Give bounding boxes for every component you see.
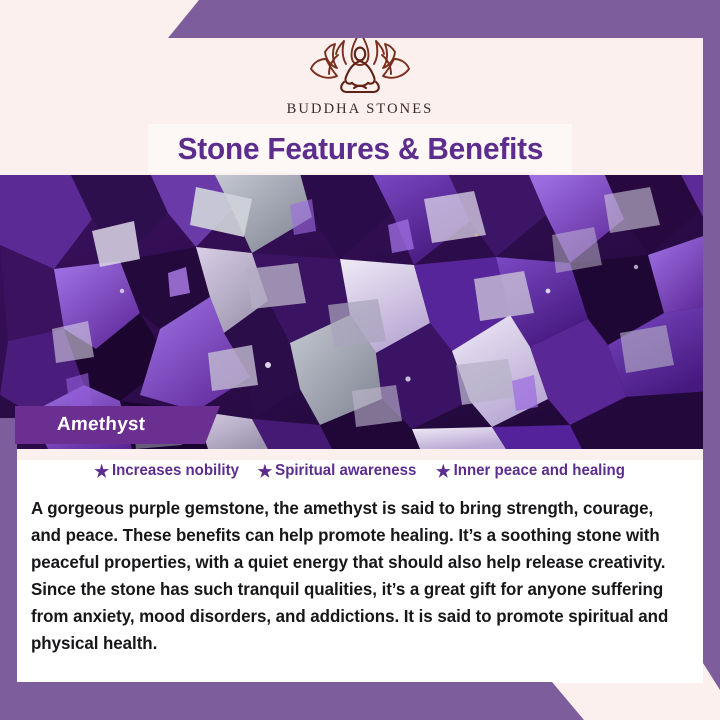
stone-name-banner: Amethyst	[15, 406, 220, 444]
right-purple-band	[703, 0, 720, 690]
benefit-item-3: ★ Inner peace and healing	[436, 462, 625, 480]
star-icon: ★	[94, 463, 109, 480]
benefit-item-1: ★ Increases nobility	[94, 462, 239, 480]
star-icon: ★	[436, 463, 451, 480]
stone-description: A gorgeous purple gemstone, the amethyst…	[31, 495, 683, 657]
panel-top-divider	[17, 449, 703, 460]
brand-name: BUDDHA STONES	[287, 101, 434, 118]
benefit-label-2: Spiritual awareness	[275, 462, 416, 480]
bottom-purple-band	[0, 682, 720, 720]
benefit-item-2: ★ Spiritual awareness	[258, 462, 417, 480]
content-panel: ★ Increases nobility ★ Spiritual awarene…	[17, 449, 703, 683]
benefits-row: ★ Increases nobility ★ Spiritual awarene…	[17, 462, 703, 480]
star-icon: ★	[258, 463, 273, 480]
page-title-plate: Stone Features & Benefits	[148, 124, 572, 173]
benefit-label-3: Inner peace and healing	[454, 462, 625, 480]
infographic-page: BUDDHA STONES Stone Features & Benefits …	[0, 0, 720, 720]
page-title: Stone Features & Benefits	[177, 131, 543, 167]
brand-logo: BUDDHA STONES	[0, 27, 720, 118]
stone-name-label: Amethyst	[56, 414, 145, 436]
left-purple-band	[0, 418, 17, 703]
benefit-label-1: Increases nobility	[112, 462, 239, 480]
